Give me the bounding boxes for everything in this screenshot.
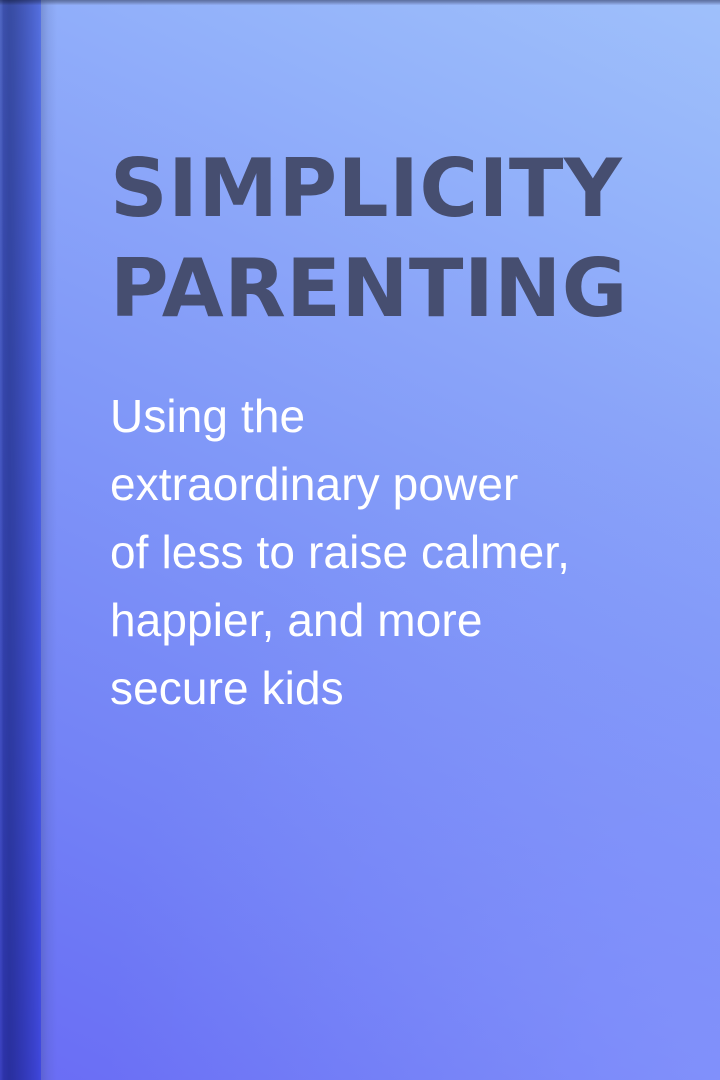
book-spine [0, 0, 41, 1080]
cover-content: SIMPLICITY PARENTING Using the extraordi… [110, 0, 680, 1080]
book-title: SIMPLICITY PARENTING [110, 139, 680, 339]
book-cover: SIMPLICITY PARENTING Using the extraordi… [0, 0, 720, 1080]
book-subtitle: Using the extraordinary power of less to… [110, 382, 680, 722]
